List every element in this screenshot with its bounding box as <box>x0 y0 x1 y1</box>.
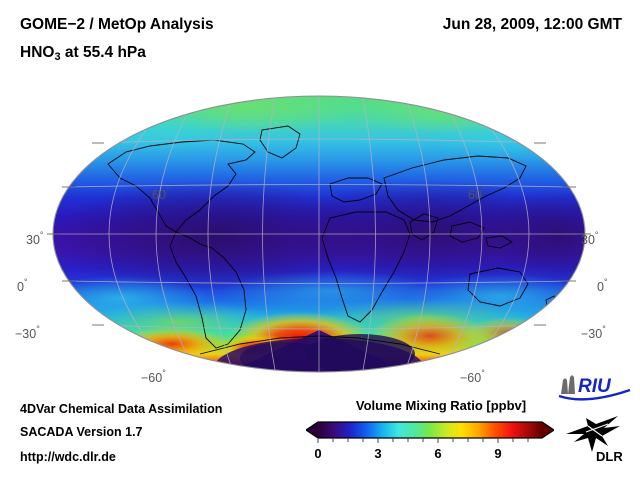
source-url[interactable]: http://wdc.dlr.de <box>20 450 116 464</box>
colorbar <box>306 420 554 444</box>
colorbar-tick-0: 0 <box>314 446 321 461</box>
riu-logo: RIU <box>556 372 634 406</box>
pressure-level: at 55.4 hPa <box>61 44 146 61</box>
figure-canvas: GOME−2 / MetOp Analysis HNO3 at 55.4 hPa… <box>0 0 640 480</box>
dlr-logo: DLR <box>562 412 634 464</box>
lat-label-left-m30: −30° <box>15 325 40 341</box>
lat-label-right-m60: −60° <box>460 369 485 385</box>
lat-label-right-0: 0° <box>597 278 608 294</box>
colorbar-tick-3: 3 <box>374 446 381 461</box>
page-title: GOME−2 / MetOp Analysis <box>20 16 214 34</box>
scalar-field <box>30 86 630 386</box>
version-label: SACADA Version 1.7 <box>20 425 143 439</box>
colorbar-tick-6: 6 <box>434 446 441 461</box>
timestamp: Jun 28, 2009, 12:00 GMT <box>443 16 622 34</box>
lat-label-right-30: 30° <box>581 231 599 247</box>
dlr-mark-icon <box>566 416 620 452</box>
map-panel: 60° 30° 0° −30° −60° 60° 30° 0° −30° −60… <box>0 86 640 386</box>
riu-wordmark: RIU <box>578 376 612 397</box>
world-map <box>0 86 640 386</box>
species-subscript: 3 <box>54 51 60 63</box>
lat-label-left-60: 60° <box>152 186 170 202</box>
species-level-label: HNO3 at 55.4 hPa <box>20 44 146 62</box>
colorbar-tick-9: 9 <box>494 446 501 461</box>
lat-label-left-30: 30° <box>26 231 44 247</box>
dlr-wordmark: DLR <box>596 449 623 464</box>
colorbar-title: Volume Mixing Ratio [ppbv] <box>331 398 551 413</box>
riu-towers-icon <box>561 375 575 394</box>
lat-label-right-m30: −30° <box>581 325 606 341</box>
colorbar-tick-labels: 0 3 6 9 <box>306 446 554 466</box>
method-label: 4DVar Chemical Data Assimilation <box>20 402 222 416</box>
lat-label-left-m60: −60° <box>141 369 166 385</box>
lat-label-right-60: 60° <box>468 186 486 202</box>
species-name: HNO <box>20 44 54 61</box>
lat-label-left-0: 0° <box>17 278 28 294</box>
